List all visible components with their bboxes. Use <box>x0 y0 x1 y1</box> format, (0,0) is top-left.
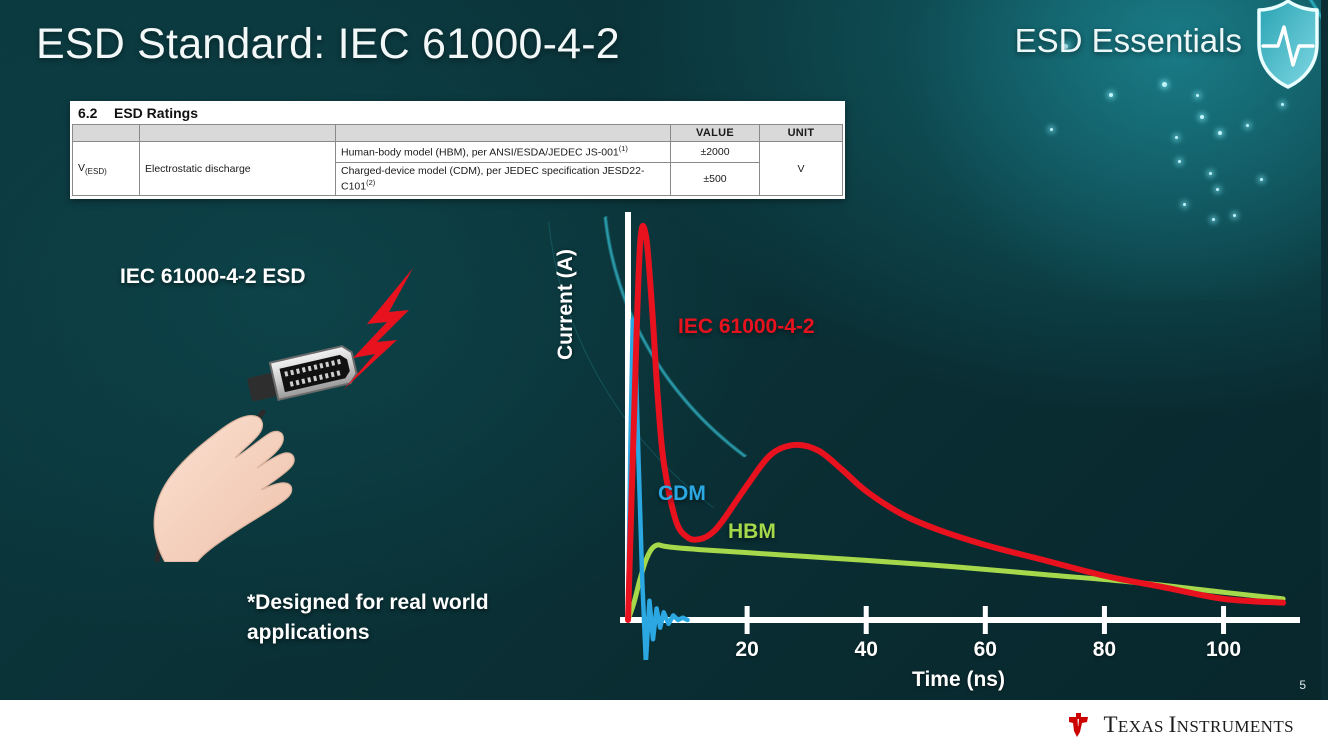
star-particle <box>1281 103 1284 106</box>
shield-pulse-icon <box>1251 0 1325 92</box>
star-particle <box>1200 115 1204 119</box>
cell-symbol: V(ESD) <box>73 142 140 196</box>
hand-shape <box>154 416 294 562</box>
section-number: 6.2 <box>78 105 100 121</box>
chart-x-tick-label: 100 <box>1206 638 1241 662</box>
right-edge-strip <box>1321 0 1328 700</box>
star-particle <box>1209 172 1212 175</box>
series-label-iec: IEC 61000-4-2 <box>678 315 815 339</box>
slide-canvas: ESD Standard: IEC 61000-4-2 ESD Essentia… <box>0 0 1328 746</box>
table-header-row: VALUE UNIT <box>73 125 843 142</box>
star-particle <box>1175 136 1178 139</box>
series-label-hbm: HBM <box>728 520 776 544</box>
star-particle <box>1246 124 1249 127</box>
star-particle <box>1218 131 1222 135</box>
series-line-hbm <box>628 545 1283 620</box>
esd-ratings-table-card: 6.2 ESD Ratings VALUE UNIT V(ESD) Electr… <box>70 101 845 199</box>
slide-footer: TEXAS INSTRUMENTS <box>0 700 1328 746</box>
star-particle <box>1178 160 1181 163</box>
cell-description: Human-body model (HBM), per ANSI/ESDA/JE… <box>336 142 671 163</box>
hdmi-connector-icon <box>245 344 359 405</box>
texas-instruments-logo: TEXAS INSTRUMENTS <box>1063 710 1294 740</box>
illustration-note: *Designed for real world applications <box>247 588 547 649</box>
header-symbol <box>73 125 140 142</box>
chart-x-tick-label: 40 <box>855 638 878 662</box>
series-label-cdm: CDM <box>658 482 706 506</box>
esd-ratings-table: VALUE UNIT V(ESD) Electrostatic discharg… <box>72 124 843 196</box>
header-unit: UNIT <box>760 125 843 142</box>
company-name: TEXAS INSTRUMENTS <box>1103 712 1294 738</box>
star-particle <box>1196 94 1199 97</box>
star-particle <box>1109 93 1113 97</box>
table-row: V(ESD) Electrostatic discharge Human-bod… <box>73 142 843 163</box>
page-title: ESD Standard: IEC 61000-4-2 <box>36 20 620 69</box>
star-particle <box>1050 128 1053 131</box>
cell-value: ±2000 <box>671 142 760 163</box>
brand-label: ESD Essentials <box>1015 22 1242 60</box>
chart-x-axis-label: Time (ns) <box>912 668 1005 692</box>
header-description <box>336 125 671 142</box>
chart-x-tick-label: 60 <box>974 638 997 662</box>
hand-holding-connector-icon <box>95 262 435 562</box>
header-value: VALUE <box>671 125 760 142</box>
star-particle <box>1162 82 1167 87</box>
chart-x-tick-label: 20 <box>735 638 758 662</box>
header-parameter <box>140 125 336 142</box>
section-title: ESD Ratings <box>114 105 198 121</box>
chart-x-tick-label: 80 <box>1093 638 1116 662</box>
page-number: 5 <box>1299 678 1306 692</box>
esd-waveform-chart: Current (A) 20406080100 IEC 61000-4-2 CD… <box>560 190 1320 700</box>
table-section-heading: 6.2 ESD Ratings <box>70 101 845 124</box>
series-line-iec <box>628 226 1283 620</box>
cell-parameter: Electrostatic discharge <box>140 142 336 196</box>
cell-unit: V <box>760 142 843 196</box>
chart-plot-area <box>560 190 1320 660</box>
texas-instruments-logo-icon <box>1063 710 1093 740</box>
star-particle <box>1260 178 1263 181</box>
